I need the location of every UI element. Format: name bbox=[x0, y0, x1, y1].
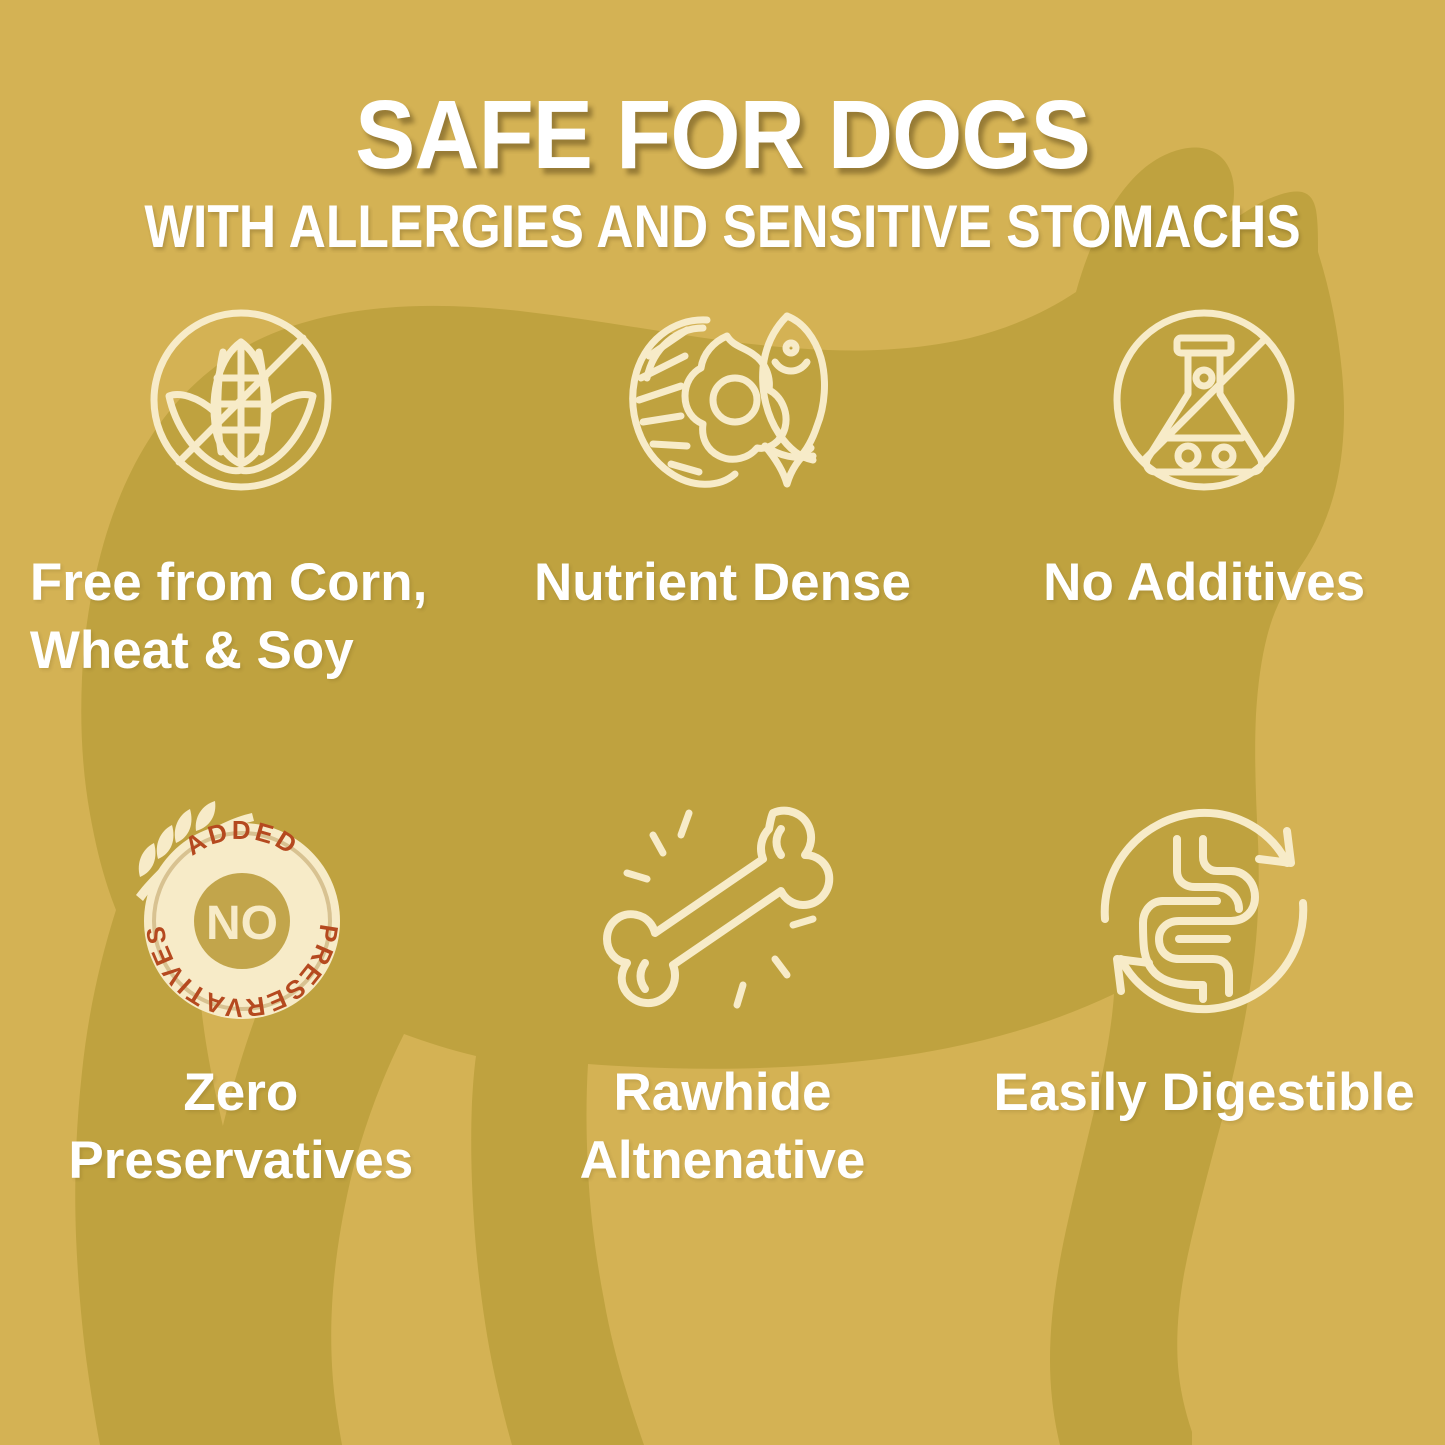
page-subtitle: WITH ALLERGIES AND SENSITIVE STOMACHS bbox=[101, 183, 1344, 257]
feature-label: Nutrient Dense bbox=[534, 515, 911, 617]
no-chemical-flask-icon bbox=[1104, 300, 1304, 500]
nutrient-protein-icon bbox=[615, 300, 830, 500]
icon-container bbox=[597, 795, 847, 1025]
feature-label: Rawhide Altnenative bbox=[507, 1025, 937, 1195]
infographic-poster: SAFE FOR DOGS WITH ALLERGIES AND SENSITI… bbox=[0, 0, 1445, 1445]
feature-item-zero-preservatives: NO ADDED PRESERVATIVES Zero Preservative… bbox=[0, 795, 482, 1215]
icon-container bbox=[141, 285, 341, 515]
icon-container bbox=[1104, 285, 1304, 515]
feature-label: Zero Preservatives bbox=[26, 1025, 456, 1195]
icon-container bbox=[1087, 795, 1322, 1025]
feature-item-rawhide-alternative: Rawhide Altnenative bbox=[482, 795, 964, 1215]
sparkle-lines bbox=[627, 813, 813, 1005]
feature-item-no-corn: Free from Corn, Wheat & Soy bbox=[0, 285, 482, 705]
digestion-intestine-icon bbox=[1087, 793, 1322, 1028]
no-added-preservatives-badge-icon: NO ADDED PRESERVATIVES bbox=[106, 785, 376, 1035]
badge-center-text: NO bbox=[206, 897, 278, 950]
no-corn-icon bbox=[141, 300, 341, 500]
feature-label: No Additives bbox=[1043, 515, 1365, 617]
feature-item-no-additives: No Additives bbox=[963, 285, 1445, 705]
dog-bone-icon bbox=[597, 795, 847, 1025]
icon-container: NO ADDED PRESERVATIVES bbox=[106, 795, 376, 1025]
header: SAFE FOR DOGS WITH ALLERGIES AND SENSITI… bbox=[0, 0, 1445, 257]
feature-item-nutrient-dense: Nutrient Dense bbox=[482, 285, 964, 705]
page-title: SAFE FOR DOGS bbox=[51, 0, 1395, 183]
icon-container bbox=[615, 285, 830, 515]
feature-label: Free from Corn, Wheat & Soy bbox=[22, 515, 460, 685]
feature-grid: Free from Corn, Wheat & Soy bbox=[0, 285, 1445, 1215]
feature-label: Easily Digestible bbox=[994, 1025, 1415, 1127]
feature-item-easily-digestible: Easily Digestible bbox=[963, 795, 1445, 1215]
